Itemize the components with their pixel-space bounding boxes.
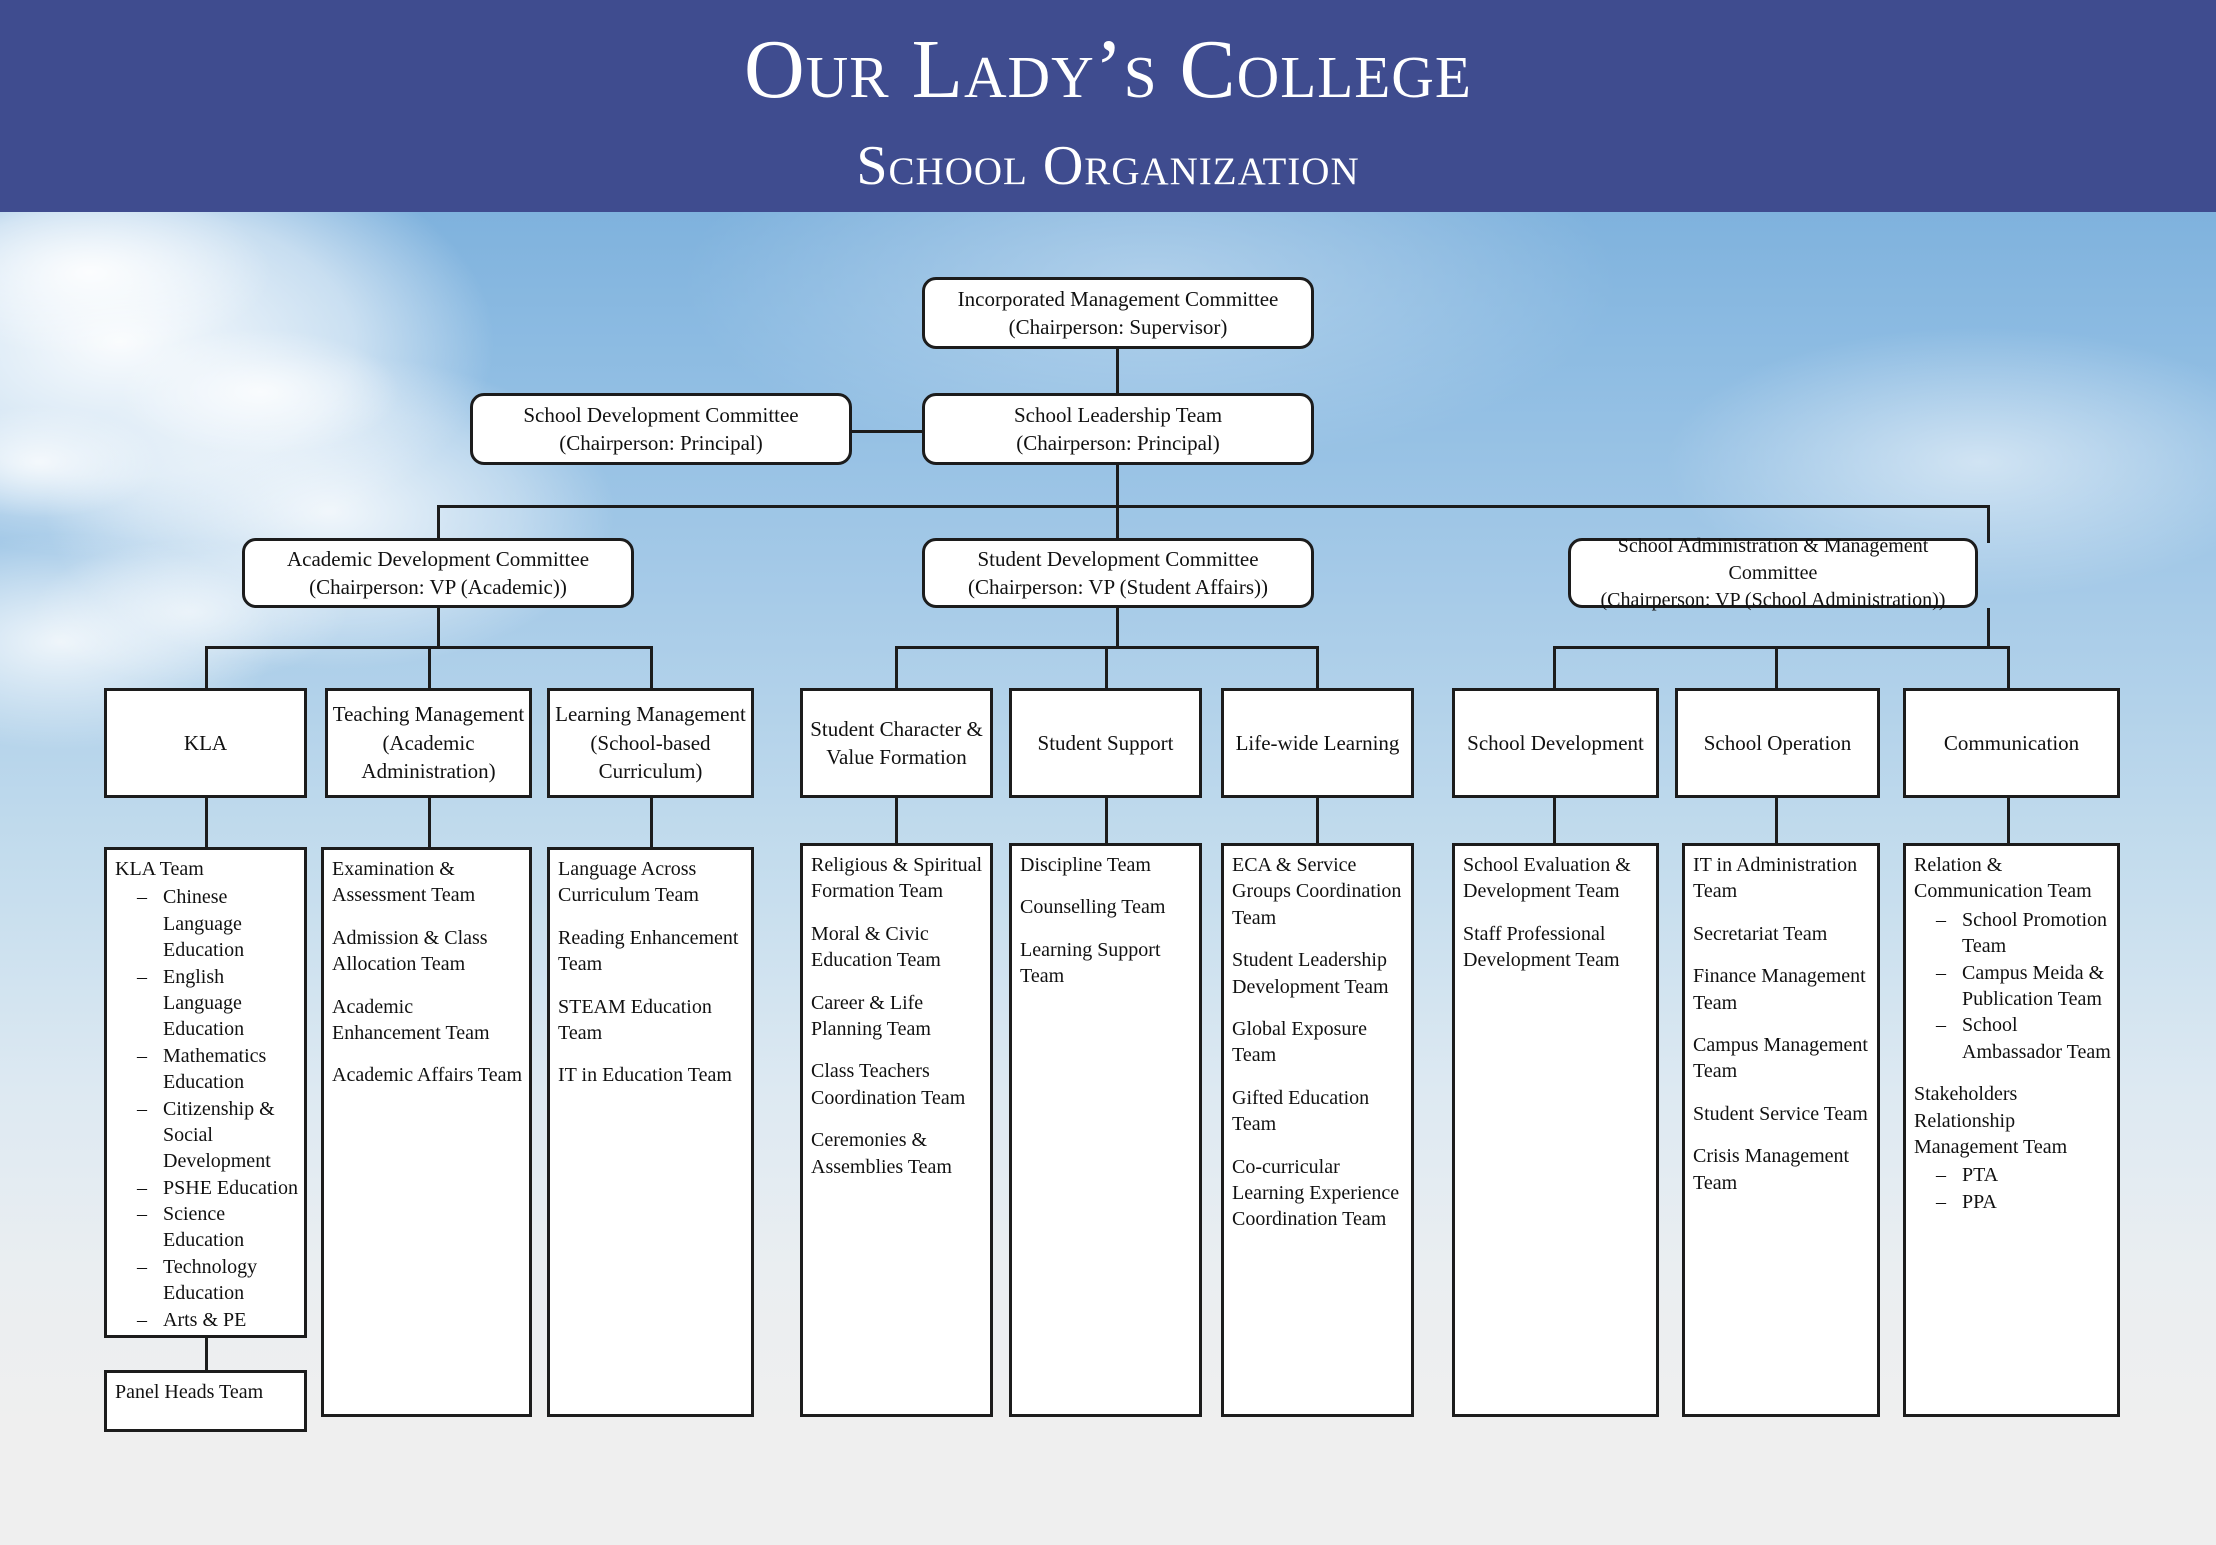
detail-group-title: Campus Management Team xyxy=(1693,1032,1871,1085)
detail-group-title: Class Teachers Coordination Team xyxy=(811,1058,984,1111)
list-item: Technology Education xyxy=(135,1254,298,1307)
connector-academic-teaching xyxy=(428,646,431,688)
committee-2-line1: School Administration & Management Commi… xyxy=(1577,533,1969,587)
slt-line2: (Chairperson: Principal) xyxy=(931,429,1305,457)
connector-academic-kla xyxy=(205,646,208,688)
detail-group-title: Academic Enhancement Team xyxy=(332,994,523,1047)
detail-group: ECA & Service Groups Coordination Team xyxy=(1232,852,1405,931)
category-6-line1: School Development xyxy=(1467,731,1644,755)
imc-line1: Incorporated Management Committee xyxy=(931,285,1305,313)
list-item: Science Education xyxy=(135,1201,298,1254)
detail-group: Discipline Team xyxy=(1020,852,1193,878)
connector-academic-learning xyxy=(650,646,653,688)
detail-column-life-wide-learning[interactable]: ECA & Service Groups Coordination TeamSt… xyxy=(1221,843,1414,1417)
detail-group-title: ECA & Service Groups Coordination Team xyxy=(1232,852,1405,931)
detail-group-title: IT in Administration Team xyxy=(1693,852,1871,905)
category-3-line2: Value Formation xyxy=(826,745,967,769)
detail-group-title: Stakeholders Relationship Management Tea… xyxy=(1914,1081,2111,1160)
category-1-line2: (Academic Administration) xyxy=(361,731,495,783)
category-communication[interactable]: Communication xyxy=(1903,688,2120,798)
connector-student-drop xyxy=(1116,608,1119,648)
connector-committee-bus xyxy=(437,505,1990,508)
detail-group-title: IT in Education Team xyxy=(558,1062,745,1088)
detail-column-student-support[interactable]: Discipline TeamCounselling TeamLearning … xyxy=(1009,843,1202,1417)
list-item: English Language Education xyxy=(135,964,298,1043)
committee-2-line2: (Chairperson: VP (School Administration)… xyxy=(1577,587,1969,614)
category-1-line1: Teaching Management xyxy=(333,702,525,726)
connector-bus-admin xyxy=(1987,505,1990,543)
list-item: Arts & PE Education xyxy=(135,1307,298,1338)
detail-group-title: Global Exposure Team xyxy=(1232,1016,1405,1069)
connector-student-support xyxy=(1105,646,1108,688)
detail-group: Gifted Education Team xyxy=(1232,1085,1405,1138)
list-item: School Ambassador Team xyxy=(1934,1012,2111,1065)
list-item: Citizenship & Social Development xyxy=(135,1096,298,1175)
detail-group-title: Counselling Team xyxy=(1020,894,1193,920)
detail-column-teaching-management[interactable]: Examination & Assessment TeamAdmission &… xyxy=(321,847,532,1417)
detail-group-title: Ceremonies & Assemblies Team xyxy=(811,1127,984,1180)
category-2-line1: Learning Management xyxy=(555,702,746,726)
detail-group-title: Secretariat Team xyxy=(1693,921,1871,947)
connector-operation-detail xyxy=(1775,798,1778,847)
imc-line2: (Chairperson: Supervisor) xyxy=(931,313,1305,341)
connector-admin-drop xyxy=(1987,608,1990,648)
detail-group: Religious & Spiritual Formation Team xyxy=(811,852,984,905)
slt-line1: School Leadership Team xyxy=(931,401,1305,429)
detail-group: Co-curricular Learning Experience Coordi… xyxy=(1232,1154,1405,1233)
detail-group-title: Finance Management Team xyxy=(1693,963,1871,1016)
detail-group: IT in Administration Team xyxy=(1693,852,1871,905)
detail-column-kla[interactable]: KLA TeamChinese Language EducationEnglis… xyxy=(104,847,307,1338)
detail-column-communication[interactable]: Relation & Communication TeamSchool Prom… xyxy=(1903,843,2120,1417)
list-item: PPA xyxy=(1934,1189,2111,1215)
sdc-line2: (Chairperson: Principal) xyxy=(479,429,843,457)
detail-group: KLA TeamChinese Language EducationEnglis… xyxy=(115,856,298,1338)
connector-character-detail xyxy=(895,798,898,847)
category-7-line1: School Operation xyxy=(1704,731,1852,755)
detail-group: Examination & Assessment Team xyxy=(332,856,523,909)
detail-group: Ceremonies & Assemblies Team xyxy=(811,1127,984,1180)
node-incorporated-management-committee[interactable]: Incorporated Management Committee (Chair… xyxy=(922,277,1314,349)
detail-group: Learning Support Team xyxy=(1020,937,1193,990)
detail-group: Crisis Management Team xyxy=(1693,1143,1871,1196)
category-life-wide-learning[interactable]: Life-wide Learning xyxy=(1221,688,1414,798)
detail-group: Student Service Team xyxy=(1693,1101,1871,1127)
detail-group-title: Language Across Curriculum Team xyxy=(558,856,745,909)
detail-group-title: KLA Team xyxy=(115,856,298,882)
detail-group: Admission & Class Allocation Team xyxy=(332,925,523,978)
detail-group-title: Examination & Assessment Team xyxy=(332,856,523,909)
detail-group-title: STEAM Education Team xyxy=(558,994,745,1047)
category-kla[interactable]: KLA xyxy=(104,688,307,798)
committee-1-line1: Student Development Committee xyxy=(931,545,1305,573)
detail-group-title: Religious & Spiritual Formation Team xyxy=(811,852,984,905)
detail-column-school-operation[interactable]: IT in Administration TeamSecretariat Tea… xyxy=(1682,843,1880,1417)
connector-student-character xyxy=(895,646,898,688)
connector-support-detail xyxy=(1105,798,1108,847)
category-4-line1: Student Support xyxy=(1038,731,1174,755)
connector-admin-bus xyxy=(1553,646,2010,649)
committee-0-line1: Academic Development Committee xyxy=(251,545,625,573)
connector-admin-communication xyxy=(2007,646,2010,688)
node-school-development-committee[interactable]: School Development Committee (Chairperso… xyxy=(470,393,852,465)
category-8-line1: Communication xyxy=(1944,731,2079,755)
detail-group-title: Gifted Education Team xyxy=(1232,1085,1405,1138)
detail-group: Career & Life Planning Team xyxy=(811,990,984,1043)
detail-group: IT in Education Team xyxy=(558,1062,745,1088)
detail-group: STEAM Education Team xyxy=(558,994,745,1047)
detail-group-title: Moral & Civic Education Team xyxy=(811,921,984,974)
connector-communication-detail xyxy=(2007,798,2010,847)
connector-academic-drop xyxy=(437,608,440,648)
list-item: PSHE Education xyxy=(135,1175,298,1201)
detail-group-title: Learning Support Team xyxy=(1020,937,1193,990)
detail-item-list: Chinese Language EducationEnglish Langua… xyxy=(115,884,298,1338)
node-school-leadership-team[interactable]: School Leadership Team (Chairperson: Pri… xyxy=(922,393,1314,465)
detail-group: Staff Professional Development Team xyxy=(1463,921,1650,974)
category-0-line1: KLA xyxy=(184,731,227,755)
sub-box-label: Panel Heads Team xyxy=(115,1379,298,1405)
detail-group: School Evaluation & Development Team xyxy=(1463,852,1650,905)
category-school-operation[interactable]: School Operation xyxy=(1675,688,1880,798)
detail-group: Campus Management Team xyxy=(1693,1032,1871,1085)
detail-group-title: Crisis Management Team xyxy=(1693,1143,1871,1196)
committee-0-line2: (Chairperson: VP (Academic)) xyxy=(251,573,625,601)
category-3-line1: Student Character & xyxy=(810,717,983,741)
list-item: School Promotion Team xyxy=(1934,907,2111,960)
list-item: PTA xyxy=(1934,1162,2111,1188)
node-panel-heads-team[interactable]: Panel Heads Team xyxy=(104,1370,307,1432)
detail-group-title: Admission & Class Allocation Team xyxy=(332,925,523,978)
connector-schooldev-detail xyxy=(1553,798,1556,847)
detail-group: Reading Enhancement Team xyxy=(558,925,745,978)
category-teaching-management[interactable]: Teaching Management (Academic Administra… xyxy=(325,688,532,798)
detail-group: Stakeholders Relationship Management Tea… xyxy=(1914,1081,2111,1215)
connector-admin-operation xyxy=(1775,646,1778,688)
category-5-line1: Life-wide Learning xyxy=(1236,731,1400,755)
sdc-line1: School Development Committee xyxy=(479,401,843,429)
detail-group: Student Leadership Development Team xyxy=(1232,947,1405,1000)
detail-group-title: Relation & Communication Team xyxy=(1914,852,2111,905)
node-student-development-committee[interactable]: Student Development Committee (Chairpers… xyxy=(922,538,1314,608)
detail-group: Global Exposure Team xyxy=(1232,1016,1405,1069)
detail-group: Moral & Civic Education Team xyxy=(811,921,984,974)
detail-group: Secretariat Team xyxy=(1693,921,1871,947)
detail-group: Relation & Communication TeamSchool Prom… xyxy=(1914,852,2111,1065)
connector-kla-panelheads xyxy=(205,1338,208,1370)
detail-group: Language Across Curriculum Team xyxy=(558,856,745,909)
detail-column-school-development[interactable]: School Evaluation & Development TeamStaf… xyxy=(1452,843,1659,1417)
connector-learning-detail xyxy=(650,798,653,847)
detail-column-learning-management[interactable]: Language Across Curriculum TeamReading E… xyxy=(547,847,754,1417)
connector-admin-schooldev xyxy=(1553,646,1556,688)
page-title: Our Lady’s College xyxy=(0,28,2216,112)
node-academic-development-committee[interactable]: Academic Development Committee (Chairper… xyxy=(242,538,634,608)
committee-1-line2: (Chairperson: VP (Student Affairs)) xyxy=(931,573,1305,601)
category-student-support[interactable]: Student Support xyxy=(1009,688,1202,798)
connector-student-lifewide xyxy=(1316,646,1319,688)
detail-group: Academic Enhancement Team xyxy=(332,994,523,1047)
detail-group-title: Academic Affairs Team xyxy=(332,1062,523,1088)
connector-teaching-detail xyxy=(428,798,431,847)
connector-sdc-slt xyxy=(851,430,922,433)
connector-lifewide-detail xyxy=(1316,798,1319,847)
detail-item-list: School Promotion TeamCampus Meida & Publ… xyxy=(1914,907,2111,1065)
connector-imc-slt xyxy=(1116,348,1119,396)
detail-column-student-character-value-formation[interactable]: Religious & Spiritual Formation TeamMora… xyxy=(800,843,993,1417)
list-item: Mathematics Education xyxy=(135,1043,298,1096)
list-item: Chinese Language Education xyxy=(135,884,298,963)
detail-group-title: Career & Life Planning Team xyxy=(811,990,984,1043)
node-school-administration-management-committee[interactable]: School Administration & Management Commi… xyxy=(1568,538,1978,608)
detail-group-title: Student Service Team xyxy=(1693,1101,1871,1127)
page-subtitle: School Organization xyxy=(0,138,2216,194)
category-2-line2: (School-based Curriculum) xyxy=(590,731,710,783)
detail-group: Class Teachers Coordination Team xyxy=(811,1058,984,1111)
detail-group: Counselling Team xyxy=(1020,894,1193,920)
connector-kla-detail xyxy=(205,798,208,847)
detail-group-title: Staff Professional Development Team xyxy=(1463,921,1650,974)
detail-item-list: PTAPPA xyxy=(1914,1162,2111,1215)
detail-group-title: Discipline Team xyxy=(1020,852,1193,878)
connector-slt-bus xyxy=(1116,463,1119,507)
category-school-development[interactable]: School Development xyxy=(1452,688,1659,798)
detail-group: Finance Management Team xyxy=(1693,963,1871,1016)
category-learning-management[interactable]: Learning Management (School-based Curric… xyxy=(547,688,754,798)
detail-group: Academic Affairs Team xyxy=(332,1062,523,1088)
detail-group-title: Student Leadership Development Team xyxy=(1232,947,1405,1000)
detail-group-title: Co-curricular Learning Experience Coordi… xyxy=(1232,1154,1405,1233)
detail-group-title: School Evaluation & Development Team xyxy=(1463,852,1650,905)
list-item: Campus Meida & Publication Team xyxy=(1934,960,2111,1013)
page-header: Our Lady’s College School Organization xyxy=(0,0,2216,212)
detail-group-title: Reading Enhancement Team xyxy=(558,925,745,978)
category-student-character-value-formation[interactable]: Student Character & Value Formation xyxy=(800,688,993,798)
